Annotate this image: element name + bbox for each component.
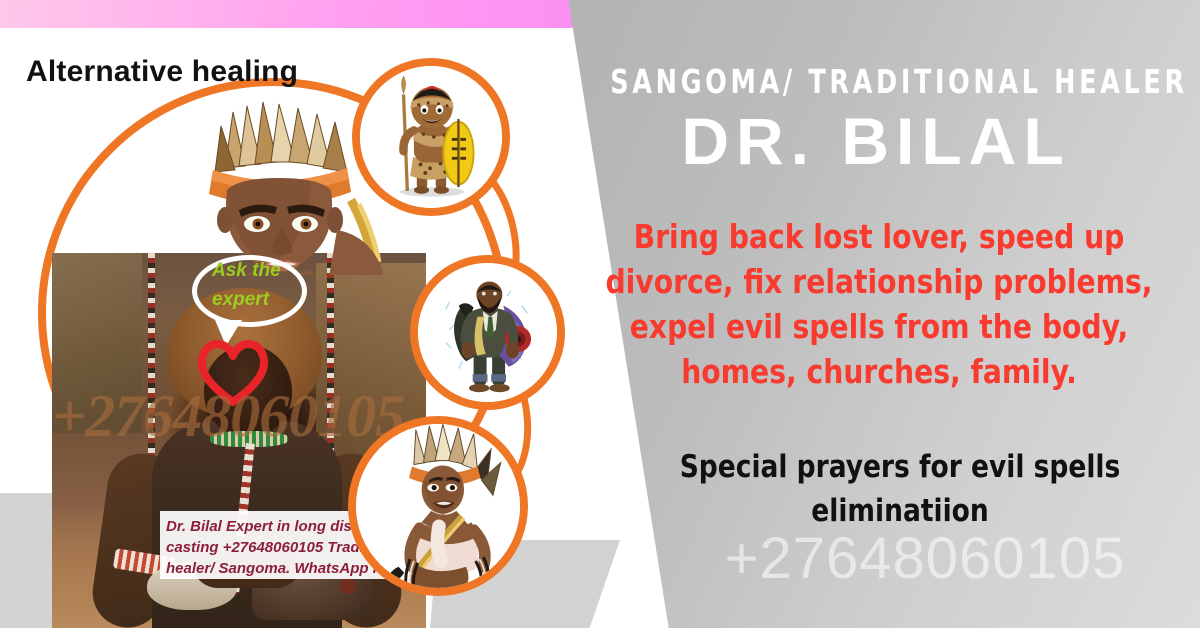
page-title: Alternative healing xyxy=(26,55,298,89)
circle-crouching-sangoma-illustration xyxy=(348,416,528,596)
kicker-text: SANGOMA/ TRADITIONAL HEALER xyxy=(610,62,1141,101)
circle-bearded-healer-illustration xyxy=(410,255,565,410)
poster-canvas: Alternative healing xyxy=(0,0,1200,628)
circle-zulu-warrior-cartoon xyxy=(352,58,510,216)
phone-watermark: +27648060105 xyxy=(645,525,1200,592)
bearded-healer-icon xyxy=(418,263,557,402)
top-pink-bar xyxy=(0,0,597,28)
brand-name: DR. BILAL xyxy=(567,103,1185,179)
speech-bubble-label: Ask the expert xyxy=(198,256,303,314)
right-content-column: SANGOMA/ TRADITIONAL HEALER DR. BILAL Br… xyxy=(545,0,1200,628)
zulu-warrior-cartoon-icon xyxy=(360,66,502,208)
crouching-sangoma-icon xyxy=(356,424,520,588)
pot-marking xyxy=(340,578,356,594)
prayers-text: Special prayers for evil spells eliminat… xyxy=(620,445,1181,533)
services-text: Bring back lost lover, speed up divorce,… xyxy=(575,214,1183,394)
bottom-left-gray-strip xyxy=(0,493,56,628)
